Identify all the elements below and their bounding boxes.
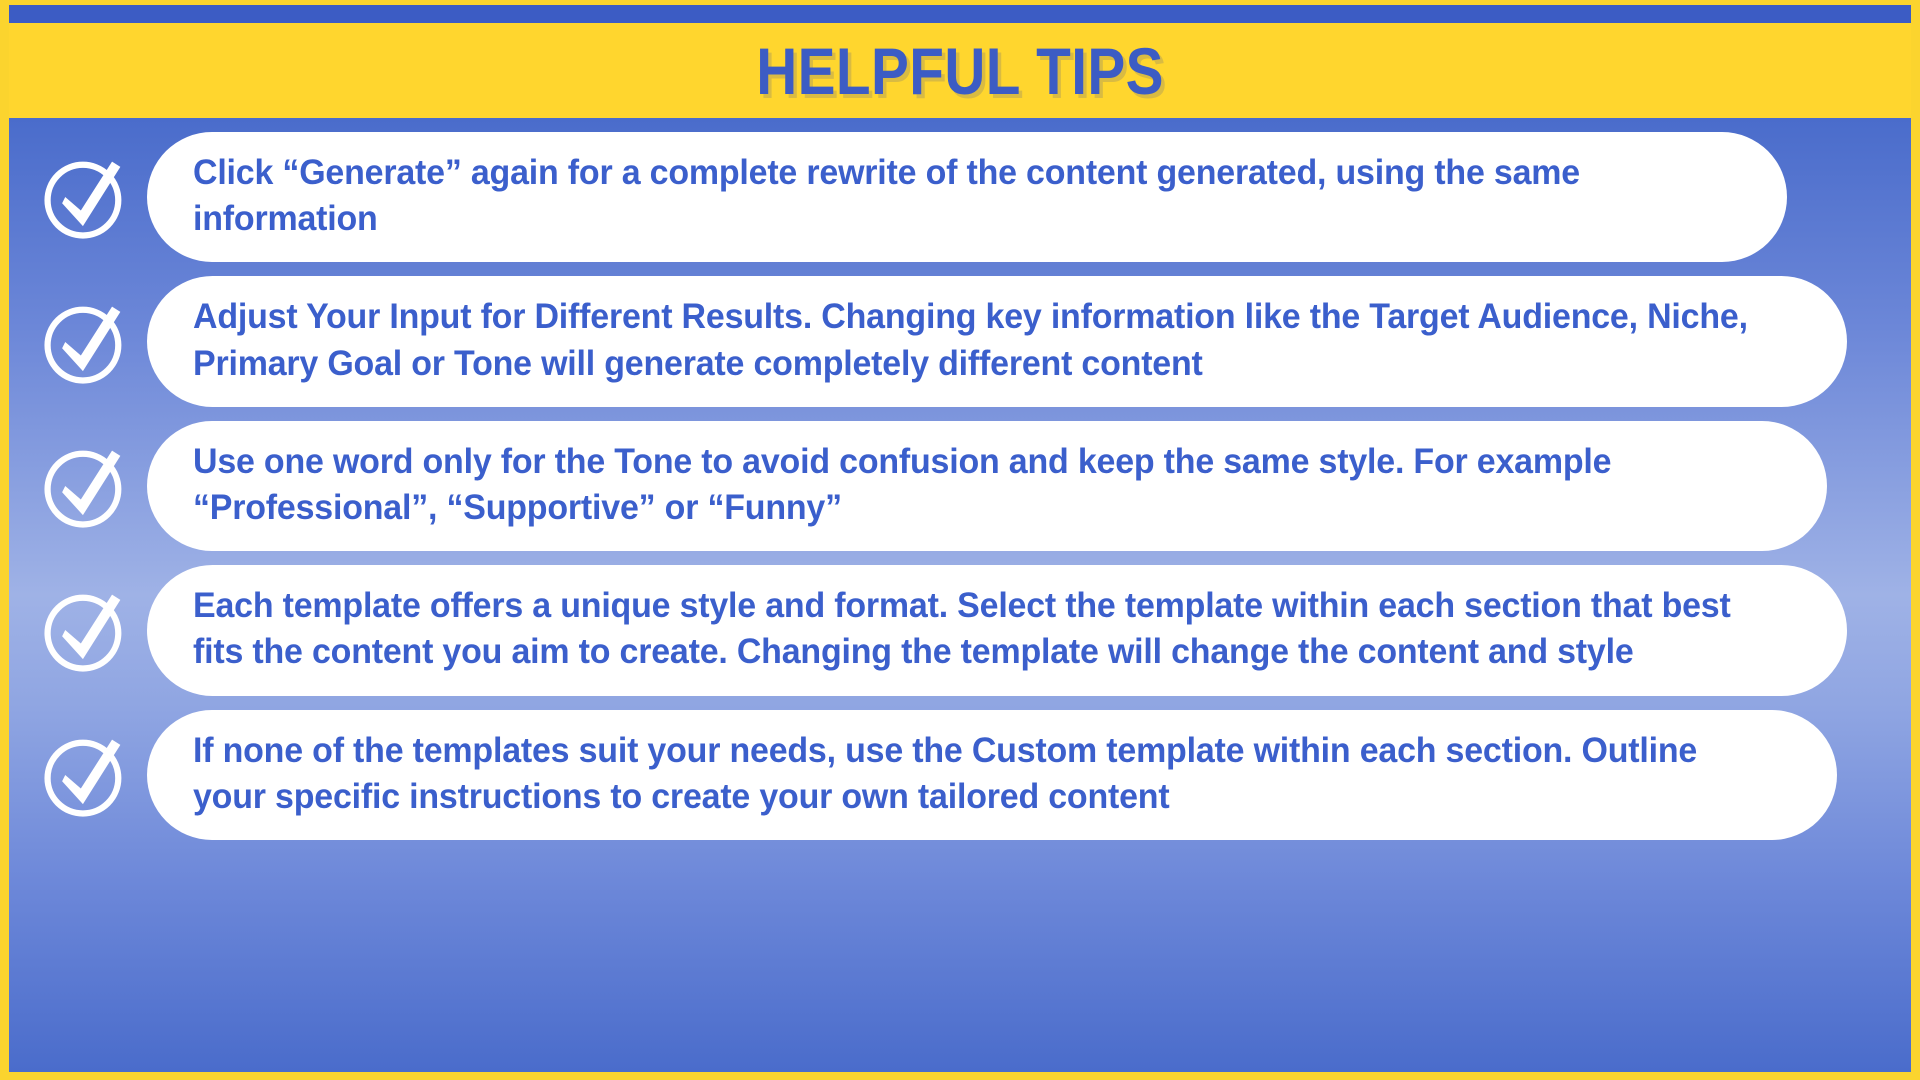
list-item: Click “Generate” again for a complete re… <box>9 132 1911 262</box>
tip-text: Use one word only for the Tone to avoid … <box>193 439 1733 531</box>
top-accent-rule <box>9 5 1911 23</box>
check-circle-icon <box>33 145 137 249</box>
check-circle-icon <box>33 434 137 538</box>
tip-card: Use one word only for the Tone to avoid … <box>147 421 1827 551</box>
list-item: Use one word only for the Tone to avoid … <box>9 421 1911 551</box>
tip-card: Each template offers a unique style and … <box>147 565 1847 695</box>
list-item: Each template offers a unique style and … <box>9 565 1911 695</box>
check-circle-icon <box>33 290 137 394</box>
helpful-tips-slide: HELPFUL TIPS Click “Generate” again for … <box>0 0 1920 1080</box>
tip-text: Adjust Your Input for Different Results.… <box>193 294 1753 386</box>
tip-card: Click “Generate” again for a complete re… <box>147 132 1787 262</box>
check-circle-icon <box>33 578 137 682</box>
list-item: If none of the templates suit your needs… <box>9 710 1911 840</box>
check-circle-icon <box>33 723 137 827</box>
tips-panel: Click “Generate” again for a complete re… <box>9 118 1911 1072</box>
tips-list: Click “Generate” again for a complete re… <box>9 118 1911 1072</box>
tip-text: If none of the templates suit your needs… <box>193 728 1743 820</box>
tip-card: Adjust Your Input for Different Results.… <box>147 276 1847 406</box>
tip-text: Click “Generate” again for a complete re… <box>193 150 1695 242</box>
header-band: HELPFUL TIPS <box>9 23 1911 118</box>
tip-text: Each template offers a unique style and … <box>193 583 1753 675</box>
tip-card: If none of the templates suit your needs… <box>147 710 1837 840</box>
page-title: HELPFUL TIPS <box>756 38 1164 104</box>
list-item: Adjust Your Input for Different Results.… <box>9 276 1911 406</box>
